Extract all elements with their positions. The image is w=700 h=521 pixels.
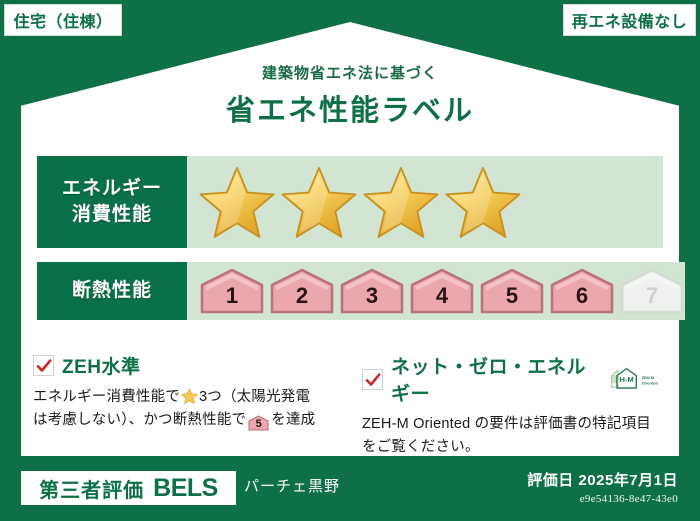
energy-performance-value xyxy=(187,156,663,248)
zeh-body-star-text: 3つ（太陽光発電 xyxy=(199,389,310,405)
footer-meta: 評価日 2025年7月1日 e9e54136-8e47-43e0 xyxy=(527,469,678,505)
criterion-zeh-header: ZEH水準 xyxy=(33,352,353,379)
insulation-grade-5: 5 xyxy=(479,268,545,314)
energy-label-line2: 消費性能 xyxy=(72,202,152,228)
inline-grade-value: 5 xyxy=(248,415,269,434)
svg-text:H-M: H-M xyxy=(620,374,634,383)
insulation-grade-value: 4 xyxy=(436,283,448,314)
criterion-net-zero-energy: ネット・ゼロ・エネルギー H-M ZEH-M Oriented ZEH-M Or… xyxy=(362,352,664,460)
zeh-checkbox[interactable] xyxy=(33,355,54,376)
title-subtitle: 建築物省エネ法に基づく xyxy=(0,62,700,83)
footer-bels-plate: 第三者評価 BELS xyxy=(21,471,236,505)
insulation-grade-value: 2 xyxy=(296,283,308,314)
insulation-grade-value: 1 xyxy=(226,283,238,314)
criterion-nze-body: ZEH-M Oriented の要件は評価書の特記項目をご覧ください。 xyxy=(362,413,664,460)
svg-text:Oriented: Oriented xyxy=(642,380,659,385)
star-icon xyxy=(281,165,357,239)
star-icon xyxy=(445,165,521,239)
criterion-zeh-title: ZEH水準 xyxy=(62,352,141,379)
zeh-m-oriented-logo-icon: H-M ZEH-M Oriented xyxy=(609,366,664,393)
insulation-grade-1: 1 xyxy=(199,268,265,314)
footer-bels-logo: BELS xyxy=(153,474,218,503)
insulation-grade-scale: 1234567 xyxy=(199,268,685,314)
row-energy-performance: エネルギー 消費性能 xyxy=(37,156,663,248)
insulation-grade-value: 6 xyxy=(576,283,588,314)
energy-performance-label: エネルギー 消費性能 xyxy=(37,156,187,248)
star-icon xyxy=(199,165,275,239)
zeh-body-part1: エネルギー消費性能で xyxy=(33,389,180,405)
star-icon xyxy=(363,165,439,239)
footer-owner-name: パーチェ黒野 xyxy=(244,475,340,496)
criterion-zeh-standard: ZEH水準 エネルギー消費性能で3つ（太陽光発電は考慮しない）、かつ断熱性能で5… xyxy=(33,352,353,433)
inline-star-icon xyxy=(181,388,198,404)
insulation-grade-value: 3 xyxy=(366,283,378,314)
zeh-body-part3: を達成 xyxy=(271,412,315,428)
footer-certificate-id: e9e54136-8e47-43e0 xyxy=(527,493,678,505)
insulation-grade-4: 4 xyxy=(409,268,475,314)
footer-third-party-label: 第三者評価 xyxy=(39,474,144,503)
criterion-zeh-body: エネルギー消費性能で3つ（太陽光発電は考慮しない）、かつ断熱性能で5を達成 xyxy=(33,386,353,433)
badge-renewable-equipment: 再エネ設備なし xyxy=(563,4,696,36)
footer-evaluation-date: 評価日 2025年7月1日 xyxy=(527,469,678,490)
criterion-nze-title: ネット・ゼロ・エネルギー xyxy=(391,352,597,406)
insulation-grade-3: 3 xyxy=(339,268,405,314)
inline-grade-badge: 5 xyxy=(248,415,269,431)
criterion-nze-header: ネット・ゼロ・エネルギー H-M ZEH-M Oriented xyxy=(362,352,664,406)
insulation-grade-value: 5 xyxy=(506,283,518,314)
net-zero-checkbox[interactable] xyxy=(362,369,383,390)
page-title: 省エネ性能ラベル xyxy=(0,87,700,129)
energy-label-line1: エネルギー xyxy=(62,176,162,202)
star-rating xyxy=(199,165,521,239)
badge-building-type: 住宅（住棟） xyxy=(4,4,122,36)
insulation-grade-6: 6 xyxy=(549,268,615,314)
insulation-grade-2: 2 xyxy=(269,268,335,314)
row-insulation-performance: 断熱性能 1234567 xyxy=(37,262,663,320)
svg-text:ZEH-M: ZEH-M xyxy=(642,375,655,380)
bels-energy-label: 住宅（住棟） 再エネ設備なし 建築物省エネ法に基づく 省エネ性能ラベル エネルギ… xyxy=(0,0,700,521)
insulation-grade-7: 7 xyxy=(619,268,685,314)
insulation-grade-value: 7 xyxy=(646,283,658,314)
insulation-performance-value: 1234567 xyxy=(187,262,685,320)
title-block: 建築物省エネ法に基づく 省エネ性能ラベル xyxy=(0,62,700,129)
insulation-performance-label: 断熱性能 xyxy=(37,262,187,320)
zeh-body-part2: は考慮しない）、かつ断熱性能で xyxy=(33,412,246,428)
